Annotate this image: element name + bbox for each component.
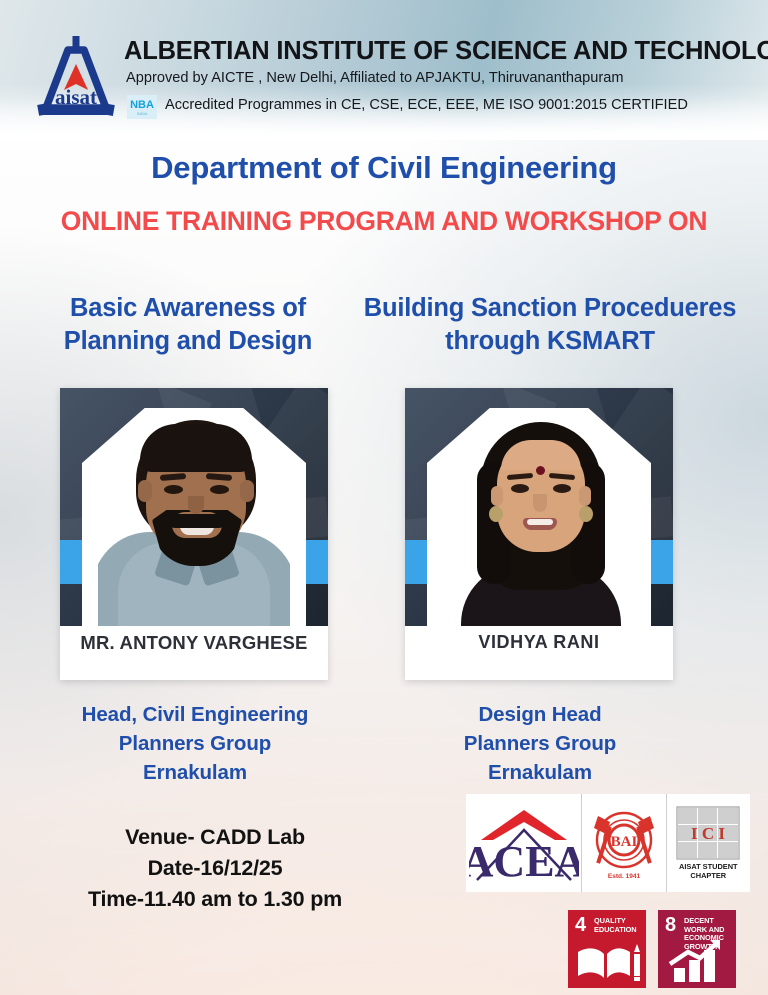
- sdg-badges: 4 QUALITY EDUCATION 8 DECENT WORK AND EC…: [568, 910, 736, 988]
- svg-text:INDIA: INDIA: [137, 111, 148, 116]
- bar-chart-arrow-icon: [658, 938, 736, 986]
- sdg-badge-8: 8 DECENT WORK AND ECONOMIC GROWTH: [658, 910, 736, 988]
- designation-1-line1: Head, Civil Engineering: [45, 700, 345, 729]
- event-details: Venue- CADD Lab Date-16/12/25 Time-11.40…: [50, 822, 380, 916]
- topic-right-line1: Building Sanction Procedueres: [350, 292, 750, 325]
- acea-logo-text: ACEA: [469, 837, 579, 886]
- designation-1-line3: Ernakulam: [45, 758, 345, 787]
- designation-2-line3: Ernakulam: [400, 758, 680, 787]
- program-title: ONLINE TRAINING PROGRAM AND WORKSHOP ON: [0, 206, 768, 237]
- institute-accredited-line: Accredited Programmes in CE, CSE, ECE, E…: [165, 97, 688, 113]
- institute-header: aisat ALBERTIAN INSTITUTE OF SCIENCE AND…: [0, 0, 768, 140]
- speaker-card-antony-varghese: MR. ANTONY VARGHESE: [60, 388, 328, 680]
- institute-name: ALBERTIAN INSTITUTE OF SCIENCE AND TECHN…: [124, 37, 760, 66]
- bai-established-text: Estd. 1941: [608, 873, 641, 880]
- topic-left-line1: Basic Awareness of: [36, 292, 340, 325]
- sdg-badge-4: 4 QUALITY EDUCATION: [568, 910, 646, 988]
- ici-caption-line2: CHAPTER: [679, 872, 738, 881]
- aisat-logo-text: aisat: [55, 85, 97, 109]
- partner-logo-strip: ACEA BAI Estd. 1941: [466, 794, 750, 892]
- speaker-designation-2: Design Head Planners Group Ernakulam: [400, 700, 680, 787]
- bai-logo: BAI Estd. 1941: [582, 794, 666, 892]
- speaker-name-2: VIDHYA RANI: [405, 632, 673, 653]
- topic-left: Basic Awareness of Planning and Design: [36, 292, 340, 357]
- bai-logo-text: BAI: [611, 834, 638, 850]
- topic-left-line2: Planning and Design: [36, 325, 340, 358]
- speaker-photo-antony-varghese: [60, 388, 328, 626]
- event-date: Date-16/12/25: [50, 853, 380, 884]
- ici-logo-text: I C I: [691, 824, 725, 843]
- event-time: Time-11.40 am to 1.30 pm: [50, 884, 380, 915]
- speaker-designation-1: Head, Civil Engineering Planners Group E…: [45, 700, 345, 787]
- book-pencil-icon: [568, 938, 646, 986]
- speaker-name-1: MR. ANTONY VARGHESE: [60, 632, 328, 654]
- topic-right-line2: through KSMART: [350, 325, 750, 358]
- institute-approved-line: Approved by AICTE , New Delhi, Affiliate…: [126, 70, 624, 86]
- topic-right: Building Sanction Procedueres through KS…: [350, 292, 750, 357]
- event-poster: aisat ALBERTIAN INSTITUTE OF SCIENCE AND…: [0, 0, 768, 995]
- department-title: Department of Civil Engineering: [0, 150, 768, 186]
- sdg-8-label-line1: DECENT WORK AND: [684, 917, 732, 934]
- ici-caption: AISAT STUDENT CHAPTER: [679, 863, 738, 881]
- designation-1-line2: Planners Group: [45, 729, 345, 758]
- speaker-photo-vidhya-rani: [405, 388, 673, 626]
- portrait-antony-varghese: [98, 414, 290, 626]
- sdg-4-label: QUALITY EDUCATION: [594, 917, 642, 934]
- nba-badge-icon: NBA INDIA: [127, 95, 157, 119]
- sdg-4-number: 4: [575, 915, 586, 935]
- svg-text:NBA: NBA: [130, 99, 154, 111]
- sdg-4-label-line2: EDUCATION: [594, 926, 642, 935]
- acea-logo: ACEA: [466, 794, 582, 892]
- portrait-vidhya-rani: [443, 414, 635, 626]
- sdg-8-number: 8: [665, 915, 676, 935]
- ici-logo: I C I AISAT STUDENT CHAPTER: [667, 794, 750, 892]
- speaker-card-vidhya-rani: VIDHYA RANI: [405, 388, 673, 680]
- designation-2-line1: Design Head: [400, 700, 680, 729]
- aisat-logo: aisat: [28, 30, 124, 130]
- designation-2-line2: Planners Group: [400, 729, 680, 758]
- event-venue: Venue- CADD Lab: [50, 822, 380, 853]
